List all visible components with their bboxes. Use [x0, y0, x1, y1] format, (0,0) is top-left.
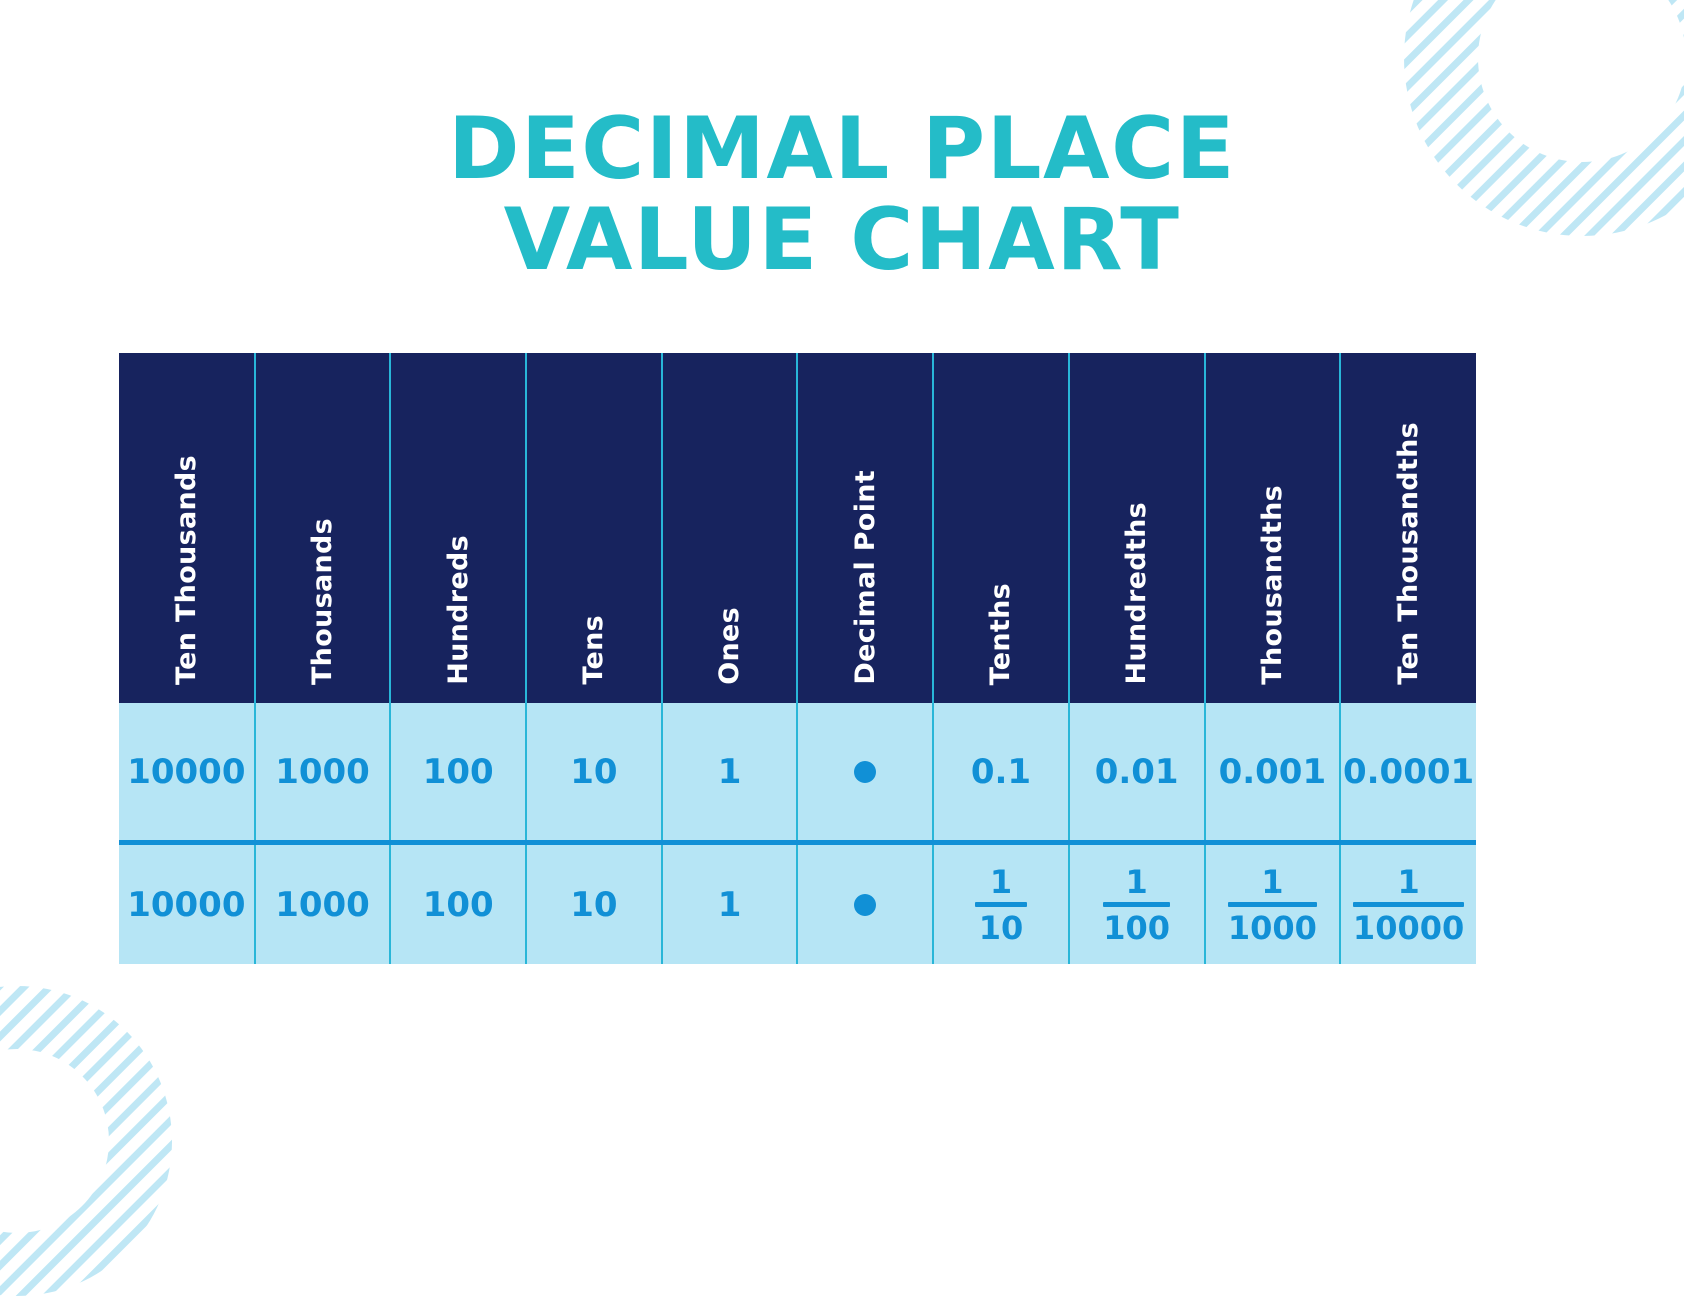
cell-content: 110000 [1341, 845, 1476, 964]
column-header-holder: Decimal Point [798, 353, 932, 703]
cell-content: 1000 [256, 845, 390, 964]
fraction-denominator: 1000 [1228, 907, 1317, 944]
cell-value: 10 [570, 752, 617, 792]
striped-ring-icon-bottom-left [0, 976, 182, 1306]
column-header-holder: Tenths [934, 353, 1068, 703]
cell-content: 1 [663, 845, 797, 964]
table-cell-decimal-values-9: 0.0001 [1340, 703, 1476, 843]
cell-content [798, 845, 932, 964]
cell-content: 110 [934, 845, 1068, 964]
column-header-label: Thousandths [1257, 485, 1288, 685]
table-cell-decimal-values-3: 10 [526, 703, 662, 843]
fraction: 1100 [1103, 866, 1170, 944]
table-row: 1000010001001010.10.010.0010.0001 [119, 703, 1476, 843]
fraction-denominator: 10 [979, 907, 1024, 944]
table-header: Ten ThousandsThousandsHundredsTensOnesDe… [119, 353, 1476, 703]
page-title-text: DECIMAL PLACE VALUE CHART [312, 104, 1372, 286]
cell-value: 10000 [127, 885, 245, 925]
table-cell-fraction-values-0: 10000 [119, 843, 255, 965]
fraction: 110 [975, 866, 1027, 944]
column-header-holder: Ones [663, 353, 797, 703]
column-header-thousandths: Thousandths [1205, 353, 1341, 703]
cell-content: 100 [391, 703, 525, 840]
table-cell-decimal-values-1: 1000 [255, 703, 391, 843]
table-cell-decimal-values-2: 100 [390, 703, 526, 843]
cell-content: 1 [663, 703, 797, 840]
fraction: 110000 [1353, 866, 1464, 944]
cell-value: 100 [423, 752, 494, 792]
column-header-holder: Thousands [256, 353, 390, 703]
cell-value: 1000 [275, 885, 370, 925]
column-header-holder: Ten Thousandths [1341, 353, 1476, 703]
column-header-label: Ten Thousandths [1393, 422, 1424, 685]
column-header-hundreds: Hundreds [390, 353, 526, 703]
table-cell-fraction-values-8: 11000 [1205, 843, 1341, 965]
place-value-table-container: Ten ThousandsThousandsHundredsTensOnesDe… [119, 353, 1476, 964]
fraction: 11000 [1228, 866, 1317, 944]
cell-content: 0.01 [1070, 703, 1204, 840]
fraction-denominator: 100 [1103, 907, 1170, 944]
fraction-numerator: 1 [1261, 866, 1283, 902]
column-header-label: Hundreds [443, 535, 474, 685]
column-header-hundredths: Hundredths [1069, 353, 1205, 703]
column-header-holder: Tens [527, 353, 661, 703]
cell-content: 10000 [119, 703, 254, 840]
table-cell-decimal-values-6: 0.1 [933, 703, 1069, 843]
column-header-ones: Ones [662, 353, 798, 703]
table-cell-decimal-values-0: 10000 [119, 703, 255, 843]
column-header-holder: Hundredths [1070, 353, 1204, 703]
cell-value: 1 [718, 752, 742, 792]
cell-value: 10000 [127, 752, 245, 792]
cell-content: 11000 [1206, 845, 1340, 964]
decimal-point-dot-icon [854, 894, 876, 916]
place-value-table: Ten ThousandsThousandsHundredsTensOnesDe… [119, 353, 1476, 964]
table-cell-fraction-values-3: 10 [526, 843, 662, 965]
cell-content: 1000 [256, 703, 390, 840]
cell-value: 100 [423, 885, 494, 925]
table-cell-decimal-values-7: 0.01 [1069, 703, 1205, 843]
column-header-thousands: Thousands [255, 353, 391, 703]
table-header-row: Ten ThousandsThousandsHundredsTensOnesDe… [119, 353, 1476, 703]
table-cell-fraction-values-7: 1100 [1069, 843, 1205, 965]
cell-content: 1100 [1070, 845, 1204, 964]
fraction-numerator: 1 [1397, 866, 1419, 902]
table-cell-decimal-values-4: 1 [662, 703, 798, 843]
column-header-holder: Thousandths [1206, 353, 1340, 703]
cell-content [798, 703, 932, 840]
cell-content: 0.0001 [1341, 703, 1476, 840]
page-title-line-2: CHART [850, 190, 1180, 290]
table-row: 100001000100101110110011000110000 [119, 843, 1476, 965]
column-header-tenths: Tenths [933, 353, 1069, 703]
cell-content: 0.1 [934, 703, 1068, 840]
table-body: 1000010001001010.10.010.0010.00011000010… [119, 703, 1476, 964]
table-cell-fraction-values-4: 1 [662, 843, 798, 965]
column-header-holder: Ten Thousands [119, 353, 254, 703]
cell-content: 10 [527, 703, 661, 840]
column-header-holder: Hundreds [391, 353, 525, 703]
table-cell-fraction-values-6: 110 [933, 843, 1069, 965]
cell-value: 0.1 [971, 752, 1031, 792]
table-cell-fraction-values-2: 100 [390, 843, 526, 965]
decimal-point-dot-icon [854, 761, 876, 783]
cell-content: 0.001 [1206, 703, 1340, 840]
column-header-label: Tens [578, 615, 609, 685]
table-cell-fraction-values-5 [797, 843, 933, 965]
cell-content: 10000 [119, 845, 254, 964]
column-header-label: Tenths [985, 583, 1016, 685]
cell-value: 0.01 [1095, 752, 1179, 792]
cell-value: 10 [570, 885, 617, 925]
table-cell-decimal-values-8: 0.001 [1205, 703, 1341, 843]
page-title: DECIMAL PLACE VALUE CHART [0, 104, 1684, 286]
column-header-label: Ten Thousands [171, 455, 202, 685]
table-cell-fraction-values-1: 1000 [255, 843, 391, 965]
column-header-ten-thousands: Ten Thousands [119, 353, 255, 703]
column-header-label: Thousands [307, 518, 338, 685]
column-header-label: Ones [714, 607, 745, 685]
cell-value: 1 [718, 885, 742, 925]
cell-content: 10 [527, 845, 661, 964]
column-header-decimal-point: Decimal Point [797, 353, 933, 703]
column-header-tens: Tens [526, 353, 662, 703]
cell-value: 1000 [275, 752, 370, 792]
cell-value: 0.001 [1219, 752, 1327, 792]
column-header-ten-thousandths: Ten Thousandths [1340, 353, 1476, 703]
cell-value: 0.0001 [1343, 752, 1474, 792]
fraction-numerator: 1 [990, 866, 1012, 902]
column-header-label: Hundredths [1121, 502, 1152, 685]
column-header-label: Decimal Point [850, 470, 881, 685]
cell-content: 100 [391, 845, 525, 964]
fraction-numerator: 1 [1126, 866, 1148, 902]
fraction-denominator: 10000 [1353, 907, 1464, 944]
table-cell-fraction-values-9: 110000 [1340, 843, 1476, 965]
table-cell-decimal-values-5 [797, 703, 933, 843]
